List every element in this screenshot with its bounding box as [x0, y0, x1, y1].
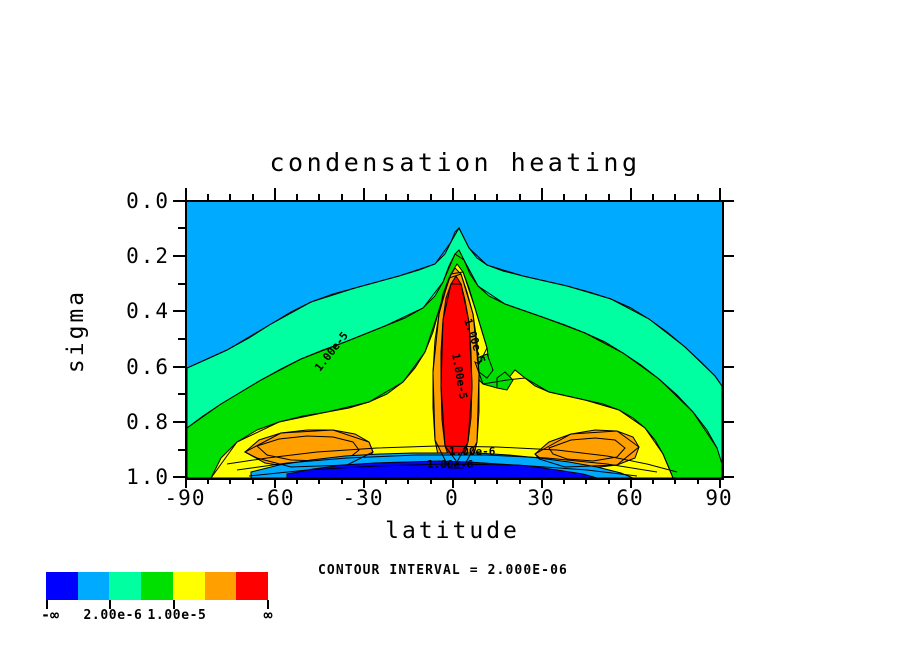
x-tick-minor-top — [318, 194, 320, 200]
colorbar-swatch-6 — [236, 572, 268, 600]
x-tick-major-top — [274, 188, 276, 200]
page-title: condensation heating — [185, 148, 725, 177]
y-tick-major-right — [722, 421, 734, 423]
y-tick-label: 0.8 — [108, 410, 170, 434]
y-tick-major-right — [722, 200, 734, 202]
y-tick-major — [173, 310, 185, 312]
x-tick-minor-top — [385, 194, 387, 200]
x-tick-minor — [697, 478, 699, 484]
colorbar-label-low: 2.00e-6 — [84, 608, 143, 623]
x-tick-minor — [430, 478, 432, 484]
y-tick-minor — [178, 393, 185, 395]
x-tick-minor-top — [496, 194, 498, 200]
y-tick-label: 0.0 — [108, 189, 170, 213]
x-tick-major-top — [630, 188, 632, 200]
x-tick-label: 90 — [705, 486, 732, 510]
x-tick-minor — [519, 478, 521, 484]
y-tick-major-right — [722, 310, 734, 312]
x-tick-label: -60 — [254, 486, 295, 510]
x-tick-minor — [385, 478, 387, 484]
contour-interval-note: CONTOUR INTERVAL = 2.000E-06 — [318, 563, 568, 578]
contour-plot-area[interactable]: 1.00e-5 1.00e-5 1.00e-5 1.00e-6 1.00e-6 — [185, 200, 724, 480]
x-tick-major-top — [719, 188, 721, 200]
x-tick-minor — [407, 478, 409, 484]
x-tick-label: 0 — [445, 486, 459, 510]
x-tick-minor-top — [207, 194, 209, 200]
x-tick-minor — [318, 478, 320, 484]
x-tick-minor-top — [519, 194, 521, 200]
y-tick-minor — [178, 449, 185, 451]
x-tick-minor-top — [407, 194, 409, 200]
colorbar-swatch-0 — [46, 572, 78, 600]
y-axis-title: sigma — [63, 251, 89, 411]
x-tick-major-top — [185, 188, 187, 200]
x-tick-minor-top — [229, 194, 231, 200]
x-tick-minor — [652, 478, 654, 484]
x-tick-minor — [674, 478, 676, 484]
x-tick-minor-top — [563, 194, 565, 200]
x-tick-minor-top — [341, 194, 343, 200]
x-tick-minor — [207, 478, 209, 484]
x-tick-minor — [229, 478, 231, 484]
y-tick-label: 0.6 — [108, 355, 170, 379]
x-tick-minor — [563, 478, 565, 484]
x-tick-minor-top — [252, 194, 254, 200]
x-tick-major-top — [363, 188, 365, 200]
y-tick-label: 1.0 — [108, 465, 170, 489]
y-tick-minor — [178, 227, 185, 229]
x-tick-label: -90 — [165, 486, 206, 510]
contour-field — [187, 202, 722, 478]
x-tick-minor — [474, 478, 476, 484]
x-tick-minor — [585, 478, 587, 484]
colorbar-swatch-4 — [173, 572, 205, 600]
colorbar-swatch-1 — [78, 572, 110, 600]
x-tick-major-top — [541, 188, 543, 200]
x-tick-major-top — [452, 188, 454, 200]
x-tick-minor-top — [585, 194, 587, 200]
x-tick-label: -30 — [343, 486, 384, 510]
y-tick-label: 0.2 — [108, 244, 170, 268]
x-tick-minor-top — [608, 194, 610, 200]
y-tick-label: 0.4 — [108, 299, 170, 323]
colorbar[interactable] — [46, 572, 268, 600]
x-tick-minor — [296, 478, 298, 484]
y-tick-minor — [178, 283, 185, 285]
colorbar-swatch-3 — [141, 572, 173, 600]
y-tick-major-right — [722, 476, 734, 478]
x-tick-label: 30 — [527, 486, 554, 510]
x-tick-minor-top — [697, 194, 699, 200]
x-tick-minor-top — [474, 194, 476, 200]
colorbar-label-max: ∞ — [263, 606, 272, 624]
x-tick-minor — [608, 478, 610, 484]
x-tick-minor-top — [296, 194, 298, 200]
colorbar-label-high: 1.00e-5 — [148, 608, 207, 623]
x-tick-minor-top — [652, 194, 654, 200]
x-tick-minor — [341, 478, 343, 484]
y-tick-major — [173, 366, 185, 368]
y-tick-major — [173, 200, 185, 202]
x-tick-minor-top — [674, 194, 676, 200]
x-tick-label: 60 — [616, 486, 643, 510]
x-tick-minor — [252, 478, 254, 484]
colorbar-swatch-2 — [109, 572, 141, 600]
y-tick-major-right — [722, 366, 734, 368]
y-tick-minor — [178, 338, 185, 340]
y-tick-major — [173, 255, 185, 257]
x-tick-minor — [496, 478, 498, 484]
y-tick-major — [173, 476, 185, 478]
y-tick-major-right — [722, 255, 734, 257]
y-tick-major — [173, 421, 185, 423]
colorbar-label-min: -∞ — [41, 606, 59, 624]
figure-canvas: condensation heating — [0, 0, 904, 654]
colorbar-swatch-5 — [205, 572, 237, 600]
x-axis-title: latitude — [185, 518, 720, 544]
x-tick-minor-top — [430, 194, 432, 200]
